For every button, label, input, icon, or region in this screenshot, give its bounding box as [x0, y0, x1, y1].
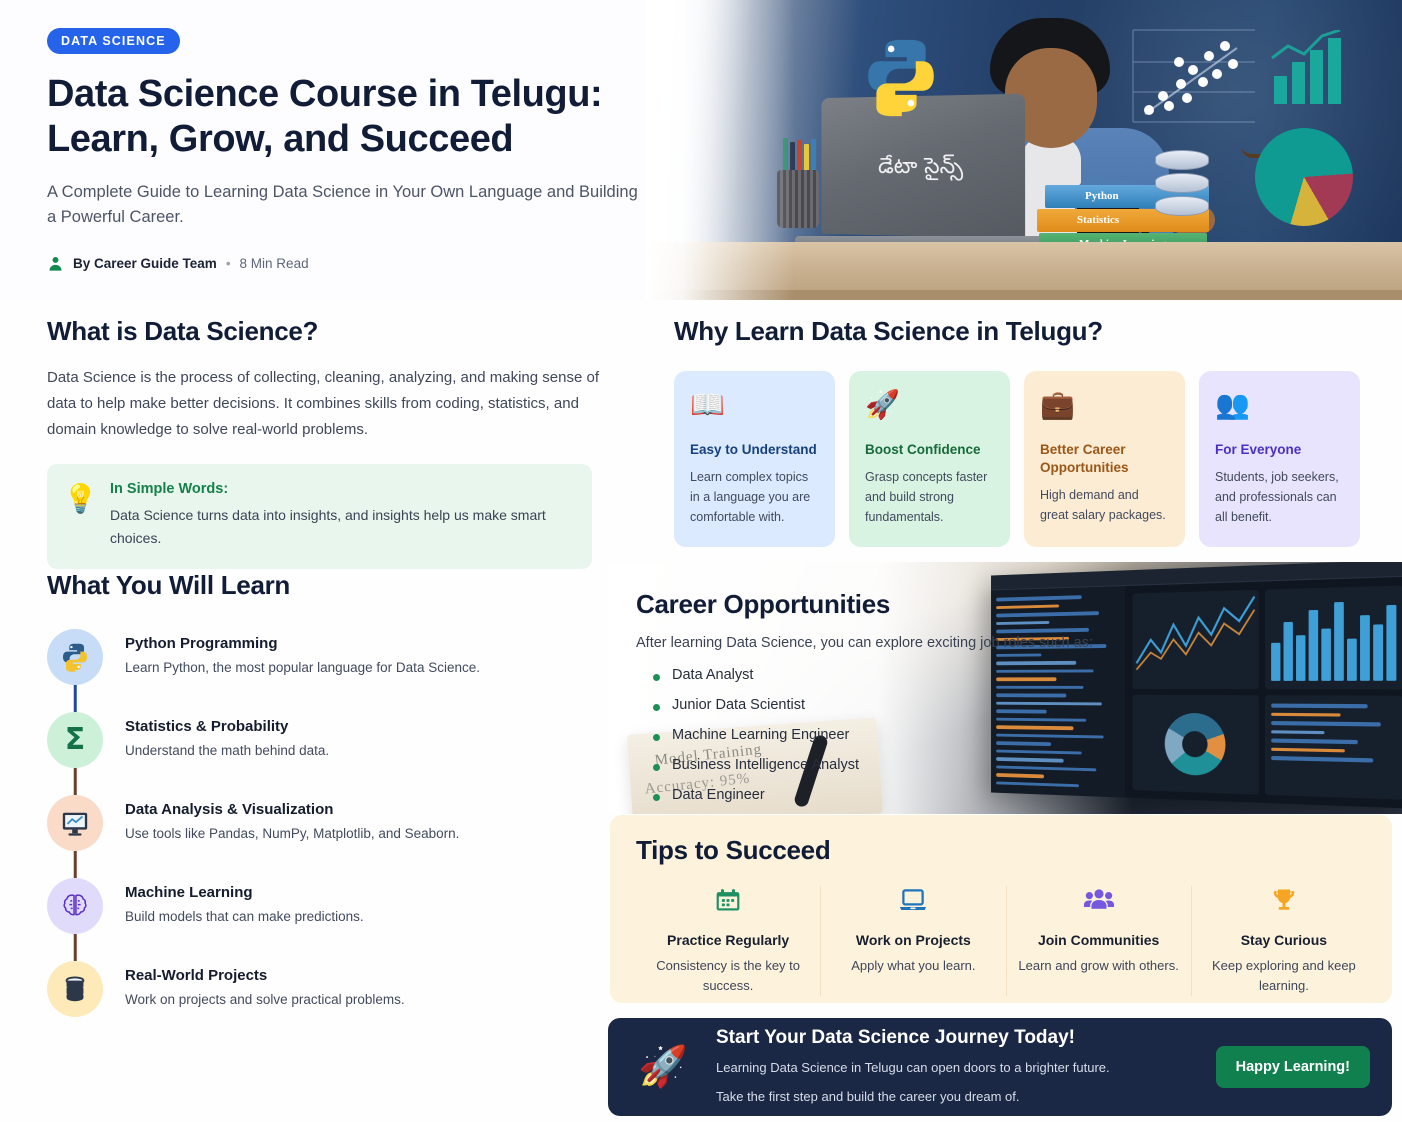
- timeline-item-statistics-probability[interactable]: Σ Statistics & Probability Understand th…: [47, 712, 607, 795]
- cta-banner: 🚀 Start Your Data Science Journey Today!…: [608, 1018, 1392, 1116]
- python-logo-icon: [860, 35, 942, 117]
- rocket-icon: 🚀: [638, 1047, 694, 1087]
- why-learn-card-row: 📖 Easy to Understand Learn complex topic…: [674, 371, 1360, 547]
- tip-work-on-projects[interactable]: Work on Projects Apply what you learn.: [821, 886, 1006, 996]
- laptop: డేటా సైన్స్: [795, 96, 1045, 256]
- person-icon: [47, 255, 64, 272]
- donut-chart-pane: [1132, 695, 1258, 795]
- tip-title: Practice Regularly: [646, 932, 810, 948]
- timeline-item-text: Build models that can make predictions.: [125, 907, 364, 927]
- callout-text: Data Science turns data into insights, a…: [110, 504, 574, 549]
- tip-title: Join Communities: [1017, 932, 1181, 948]
- page-subtitle: A Complete Guide to Learning Data Scienc…: [47, 180, 647, 231]
- trophy-icon: [1202, 886, 1366, 920]
- tip-text: Learn and grow with others.: [1017, 956, 1181, 976]
- lightbulb-icon: 💡: [63, 481, 97, 549]
- tip-title: Work on Projects: [831, 932, 995, 948]
- scatter-plot-icon: [1125, 22, 1260, 132]
- hero-illustration: డేటా సైన్స్ DATA SCIENCE: [645, 0, 1402, 300]
- line-chart-pane: [1132, 590, 1258, 689]
- learning-timeline: Python Programming Learn Python, the mos…: [47, 629, 607, 1044]
- byline-separator: •: [226, 256, 231, 271]
- tip-text: Apply what you learn.: [831, 956, 995, 976]
- why-learn-section: Why Learn Data Science in Telugu? 📖 Easy…: [674, 316, 1360, 547]
- tip-stay-curious[interactable]: Stay Curious Keep exploring and keep lea…: [1192, 886, 1376, 996]
- open-book-icon: 📖: [690, 391, 819, 425]
- what-is-body: Data Science is the process of collectin…: [47, 365, 607, 442]
- timeline-item-title: Real-World Projects: [125, 967, 405, 984]
- why-card-boost-confidence[interactable]: 🚀 Boost Confidence Grasp concepts faster…: [849, 371, 1010, 547]
- calendar-icon: [646, 886, 810, 920]
- list-item: Data Analyst: [636, 667, 1128, 683]
- why-card-easy-to-understand[interactable]: 📖 Easy to Understand Learn complex topic…: [674, 371, 835, 547]
- section-heading-why-learn: Why Learn Data Science in Telugu?: [674, 316, 1360, 347]
- timeline-item-title: Python Programming: [125, 635, 480, 652]
- pie-chart-icon: [1255, 128, 1353, 226]
- in-simple-words-callout: 💡 In Simple Words: Data Science turns da…: [47, 464, 592, 568]
- what-you-will-learn-section: What You Will Learn Python Programming L…: [47, 570, 607, 1044]
- what-is-data-science-section: What is Data Science? Data Science is th…: [47, 316, 607, 569]
- tip-join-communities[interactable]: Join Communities Learn and grow with oth…: [1007, 886, 1192, 996]
- why-card-text: Grasp concepts faster and build strong f…: [865, 468, 994, 527]
- briefcase-icon: 💼: [1040, 391, 1169, 425]
- database-icon: [47, 961, 103, 1017]
- brain-icon: [47, 878, 103, 934]
- why-card-title: Boost Confidence: [865, 441, 994, 459]
- section-heading-what-is: What is Data Science?: [47, 316, 607, 347]
- section-heading-career: Career Opportunities: [636, 589, 1128, 620]
- timeline-item-text: Use tools like Pandas, NumPy, Matplotlib…: [125, 824, 459, 844]
- timeline-item-title: Machine Learning: [125, 884, 364, 901]
- tips-to-succeed-section: Tips to Succeed: [610, 815, 1392, 1003]
- desk-edge: [645, 290, 1402, 300]
- cta-line-2: Take the first step and build the career…: [716, 1087, 1194, 1107]
- why-card-better-career-opportunities[interactable]: 💼 Better Career Opportunities High deman…: [1024, 371, 1185, 547]
- database-icon: [1155, 150, 1209, 222]
- monitor-chart-icon: [47, 795, 103, 851]
- why-card-text: Students, job seekers, and professionals…: [1215, 468, 1344, 527]
- pencil-cup: [777, 170, 819, 228]
- python-logo-icon: [47, 629, 103, 685]
- bar-chart-icon: [1270, 30, 1350, 110]
- callout-title: In Simple Words:: [110, 481, 574, 497]
- why-card-text: High demand and great salary packages.: [1040, 486, 1169, 526]
- list-item: Machine Learning Engineer: [636, 727, 1128, 743]
- laptop-lid-text: డేటా సైన్స్: [821, 154, 1025, 185]
- career-text-block: Career Opportunities After learning Data…: [608, 562, 1128, 803]
- list-item: Junior Data Scientist: [636, 697, 1128, 713]
- timeline-item-title: Data Analysis & Visualization: [125, 801, 459, 818]
- timeline-item-python-programming[interactable]: Python Programming Learn Python, the mos…: [47, 629, 607, 712]
- list-item: Data Engineer: [636, 787, 1128, 803]
- timeline-item-text: Learn Python, the most popular language …: [125, 658, 480, 678]
- tips-grid: Practice Regularly Consistency is the ke…: [636, 886, 1376, 996]
- article-page: డేటా సైన్స్ DATA SCIENCE: [0, 0, 1402, 1122]
- log-pane: [1265, 695, 1402, 799]
- read-time: 8 Min Read: [240, 256, 309, 271]
- page-title: Data Science Course in Telugu: Learn, Gr…: [47, 72, 647, 162]
- timeline-item-machine-learning[interactable]: Machine Learning Build models that can m…: [47, 878, 607, 961]
- tip-text: Consistency is the key to success.: [646, 956, 810, 996]
- section-heading-tips: Tips to Succeed: [636, 835, 1376, 866]
- career-lead: After learning Data Science, you can exp…: [636, 635, 1128, 651]
- author-name: By Career Guide Team: [73, 256, 217, 271]
- section-heading-what-you-learn: What You Will Learn: [47, 570, 607, 601]
- timeline-item-text: Understand the math behind data.: [125, 741, 329, 761]
- people-group-icon: [1017, 886, 1181, 920]
- cta-title: Start Your Data Science Journey Today!: [716, 1027, 1194, 1049]
- rocket-icon: 🚀: [865, 391, 994, 425]
- timeline-item-data-analysis-visualization[interactable]: Data Analysis & Visualization Use tools …: [47, 795, 607, 878]
- sigma-glyph: Σ: [65, 725, 86, 755]
- hero-text-block: DATA SCIENCE Data Science Course in Telu…: [47, 28, 647, 272]
- why-card-for-everyone[interactable]: 👥 For Everyone Students, job seekers, an…: [1199, 371, 1360, 547]
- cta-line-1: Learning Data Science in Telugu can open…: [716, 1058, 1194, 1078]
- hero-section: డేటా సైన్స్ DATA SCIENCE: [0, 0, 1402, 300]
- why-card-title: For Everyone: [1215, 441, 1344, 459]
- tip-practice-regularly[interactable]: Practice Regularly Consistency is the ke…: [636, 886, 821, 996]
- timeline-item-title: Statistics & Probability: [125, 718, 329, 735]
- category-badge[interactable]: DATA SCIENCE: [47, 28, 180, 54]
- timeline-item-real-world-projects[interactable]: Real-World Projects Work on projects and…: [47, 961, 607, 1044]
- sigma-icon: Σ: [47, 712, 103, 768]
- timeline-item-text: Work on projects and solve practical pro…: [125, 990, 405, 1010]
- byline: By Career Guide Team • 8 Min Read: [47, 255, 647, 272]
- bar-chart-pane: [1265, 585, 1402, 689]
- people-group-icon: 👥: [1215, 391, 1344, 425]
- tip-text: Keep exploring and keep learning.: [1202, 956, 1366, 996]
- why-card-title: Better Career Opportunities: [1040, 441, 1169, 477]
- happy-learning-button[interactable]: Happy Learning!: [1216, 1046, 1370, 1088]
- laptop-icon: [831, 886, 995, 920]
- list-item: Business Intelligence Analyst: [636, 757, 1128, 773]
- why-card-text: Learn complex topics in a language you a…: [690, 468, 819, 527]
- why-card-title: Easy to Understand: [690, 441, 819, 459]
- career-opportunities-section: Model Training Accuracy: 95% Career Oppo…: [608, 562, 1402, 814]
- job-roles-list: Data Analyst Junior Data Scientist Machi…: [636, 667, 1128, 803]
- tip-title: Stay Curious: [1202, 932, 1366, 948]
